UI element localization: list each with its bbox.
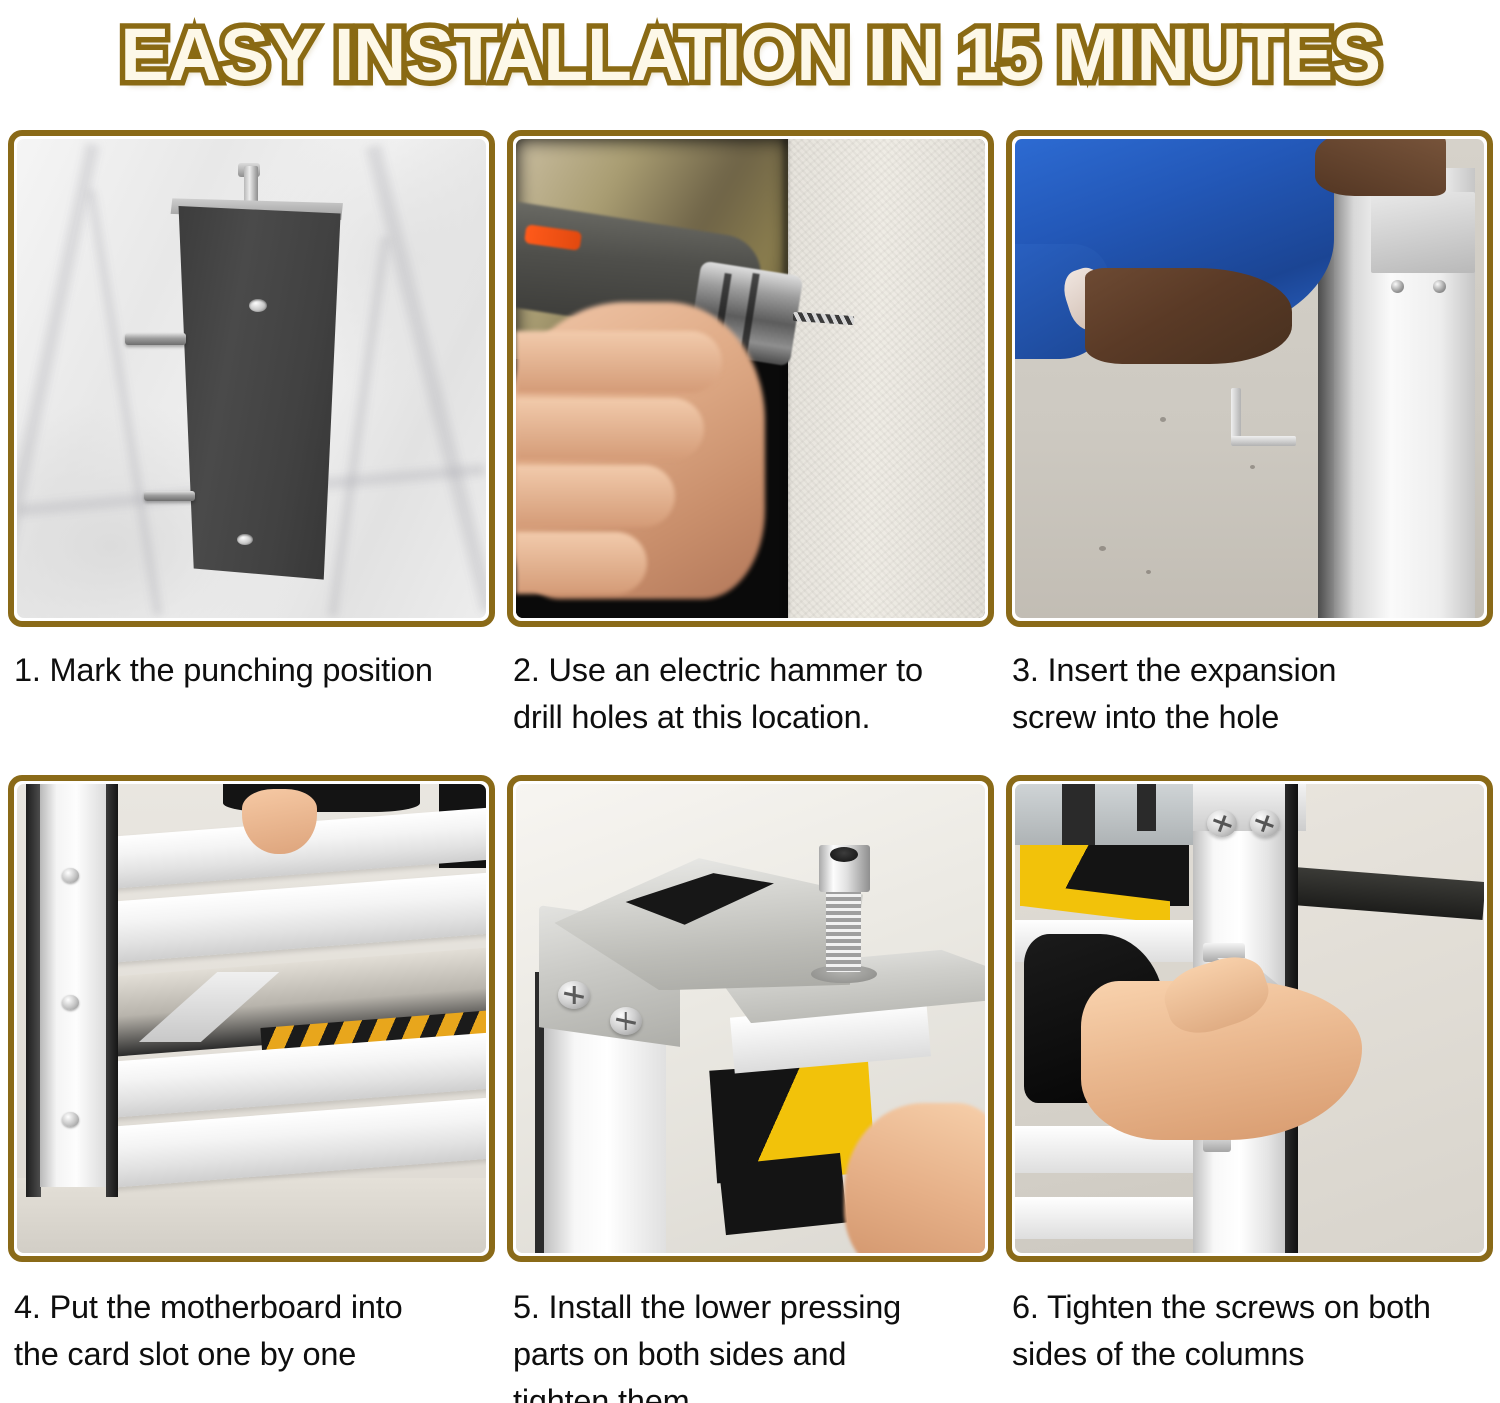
- step-card-2: 2. Use an electric hammer to drill holes…: [507, 130, 994, 775]
- caption-line: parts on both sides and: [513, 1331, 988, 1378]
- step-card-5: 5. Install the lower pressing parts on b…: [507, 775, 994, 1403]
- screw-icon: [610, 1007, 642, 1035]
- photo-install-lower-pressing-parts: [516, 784, 985, 1253]
- caption-line: 1. Mark the punching position: [14, 647, 489, 694]
- stud-pin-upper: [125, 333, 186, 345]
- worker-arm: [1085, 268, 1291, 364]
- photo-frame-3: [1006, 130, 1493, 627]
- step-card-6: 6. Tighten the screws on both sides of t…: [1006, 775, 1493, 1403]
- photo-frame-5: [507, 775, 994, 1262]
- photo-motherboard-into-card-slot: [17, 784, 486, 1253]
- barrier-board: [1015, 1197, 1198, 1239]
- screw-icon: [62, 995, 79, 1010]
- step-card-1: 1. Mark the punching position: [8, 130, 495, 775]
- hand: [1315, 139, 1446, 196]
- photo-tighten-screws-on-columns: [1015, 784, 1484, 1253]
- step-caption-2: 2. Use an electric hammer to drill holes…: [507, 627, 994, 741]
- caption-line: 2. Use an electric hammer to: [513, 647, 988, 694]
- screw-icon: [62, 868, 79, 883]
- column-post: [40, 784, 106, 1187]
- step-card-3: 3. Insert the expansion screw into the h…: [1006, 130, 1493, 775]
- screw-icon: [1207, 810, 1237, 837]
- step-caption-5: 5. Install the lower pressing parts on b…: [507, 1262, 994, 1403]
- photo-mark-punching-position: [17, 139, 486, 618]
- step-caption-6: 6. Tighten the screws on both sides of t…: [1006, 1262, 1493, 1378]
- photo-frame-6: [1006, 775, 1493, 1262]
- caption-line: 3. Insert the expansion: [1012, 647, 1487, 694]
- caption-line: screw into the hole: [1012, 694, 1487, 741]
- caption-line: sides of the columns: [1012, 1331, 1487, 1378]
- caption-line: tighten them: [513, 1378, 988, 1403]
- caption-line: 4. Put the motherboard into: [14, 1284, 489, 1331]
- screw-icon: [1250, 810, 1280, 837]
- photo-frame-2: [507, 130, 994, 627]
- stud-pin-lower: [144, 491, 196, 501]
- marking-plate: [172, 206, 341, 580]
- textured-wall: [788, 139, 985, 618]
- title-banner: EASY INSTALLATION IN 15 MINUTES: [0, 0, 1500, 110]
- caption-line: the card slot one by one: [14, 1331, 489, 1378]
- caption-line: 6. Tighten the screws on both: [1012, 1284, 1487, 1331]
- barrier-board: [104, 872, 486, 963]
- screw-icon: [62, 1112, 79, 1127]
- step-caption-4: 4. Put the motherboard into the card slo…: [8, 1262, 495, 1378]
- caption-line: 5. Install the lower pressing: [513, 1284, 988, 1331]
- steps-grid: 1. Mark the punching position: [8, 130, 1494, 1403]
- caption-line: drill holes at this location.: [513, 694, 988, 741]
- step-card-4: 4. Put the motherboard into the card slo…: [8, 775, 495, 1403]
- photo-insert-expansion-screw: [1015, 139, 1484, 618]
- column-mount-plate: [1371, 192, 1474, 273]
- photo-frame-1: [8, 130, 495, 627]
- photo-drill-holes-electric-hammer: [516, 139, 985, 618]
- step-caption-1: 1. Mark the punching position: [8, 627, 495, 694]
- instruction-sheet: EASY INSTALLATION IN 15 MINUTES: [0, 0, 1500, 1403]
- step-caption-3: 3. Insert the expansion screw into the h…: [1006, 627, 1493, 741]
- screw-icon: [558, 981, 590, 1009]
- page-title: EASY INSTALLATION IN 15 MINUTES: [120, 18, 1380, 92]
- photo-frame-4: [8, 775, 495, 1262]
- thumb-bolt-icon: [826, 887, 861, 971]
- allen-key-icon: [1231, 388, 1297, 445]
